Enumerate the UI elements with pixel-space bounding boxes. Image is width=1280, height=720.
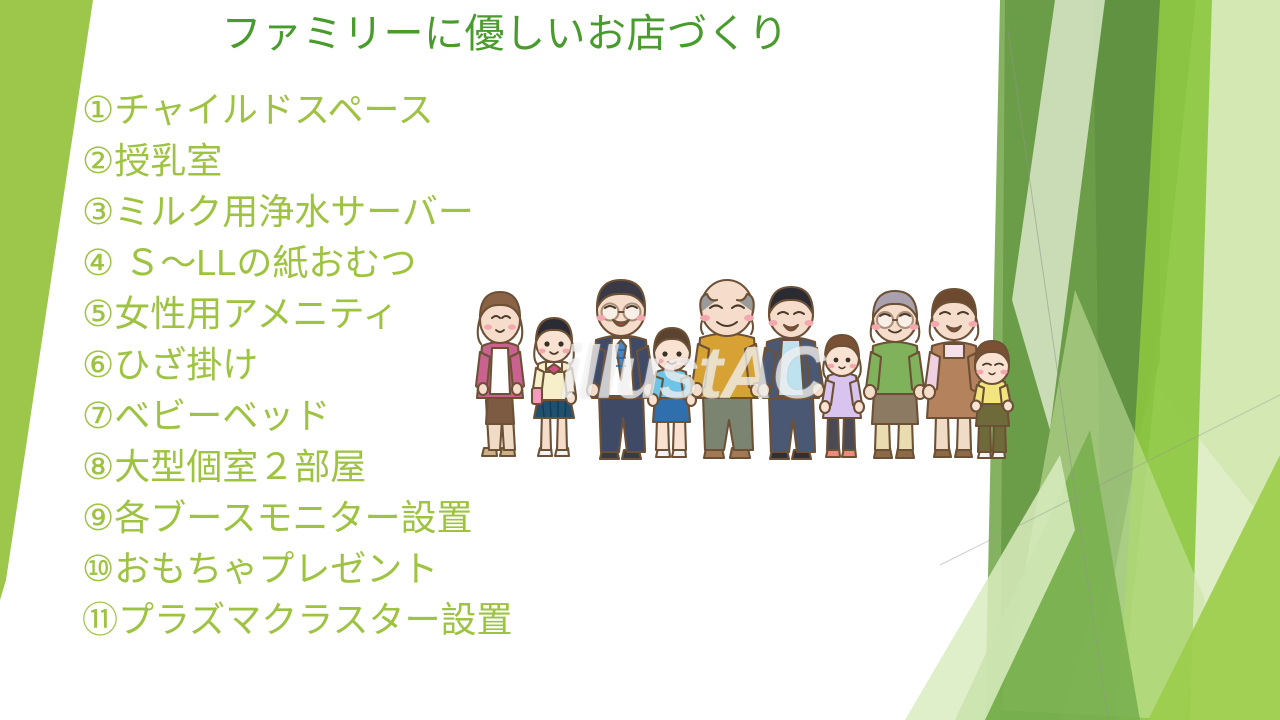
- facet-pale-lower: [1000, 300, 1280, 720]
- hairline-upper: [1008, 30, 1108, 720]
- figure-girl-purple-dress: [820, 335, 864, 457]
- facet-bright-sliver: [1118, 0, 1212, 720]
- facet-right-bright: [1117, 0, 1280, 720]
- slide-title: ファミリーに優しいお店づくり: [0, 8, 1010, 60]
- figure-grandmother-glasses: [864, 291, 926, 458]
- facet-bottom-right: [1148, 455, 1280, 720]
- figure-father-glasses-suit: [587, 280, 655, 459]
- three-generation-family-illustration: .o { stroke:#6d5136; stroke-width:2.1; s…: [462, 272, 1014, 482]
- list-item: ⑪プラズマクラスター設置: [82, 594, 702, 645]
- figure-young-father-navy: [758, 287, 824, 459]
- list-item: ⑨各ブースモニター設置: [82, 492, 702, 543]
- facet-soft-upper: [1012, 0, 1105, 430]
- figure-grandfather-bald: [691, 280, 763, 458]
- list-item: ①チャイルドスペース: [82, 84, 702, 135]
- facet-light-diagonal: [1000, 290, 1205, 720]
- left-green-wedge: [0, 0, 93, 600]
- list-item: ⑩おもちゃプレゼント: [82, 543, 702, 594]
- figure-mother-pink-jacket: [476, 292, 524, 456]
- facet-dark-core: [1093, 0, 1160, 640]
- facet-dark-green: [1000, 0, 1160, 720]
- list-item: ③ミルク用浄水サーバー: [82, 186, 702, 237]
- figure-boy-blue-shirt: [648, 328, 696, 457]
- slide-canvas: ファミリーに優しいお店づくり ①チャイルドスペース ②授乳室 ③ミルク用浄水サー…: [0, 0, 1280, 720]
- list-item: ②授乳室: [82, 135, 702, 186]
- facet-base-right: [1010, 0, 1280, 720]
- figure-schoolgirl-with-phone: [532, 318, 576, 456]
- facet-pale-wash: [1000, 0, 1280, 720]
- facet-mid-green: [985, 0, 1196, 720]
- figure-toddler-yellow-shirt: [971, 341, 1013, 458]
- facet-lower-pale: [905, 455, 1075, 720]
